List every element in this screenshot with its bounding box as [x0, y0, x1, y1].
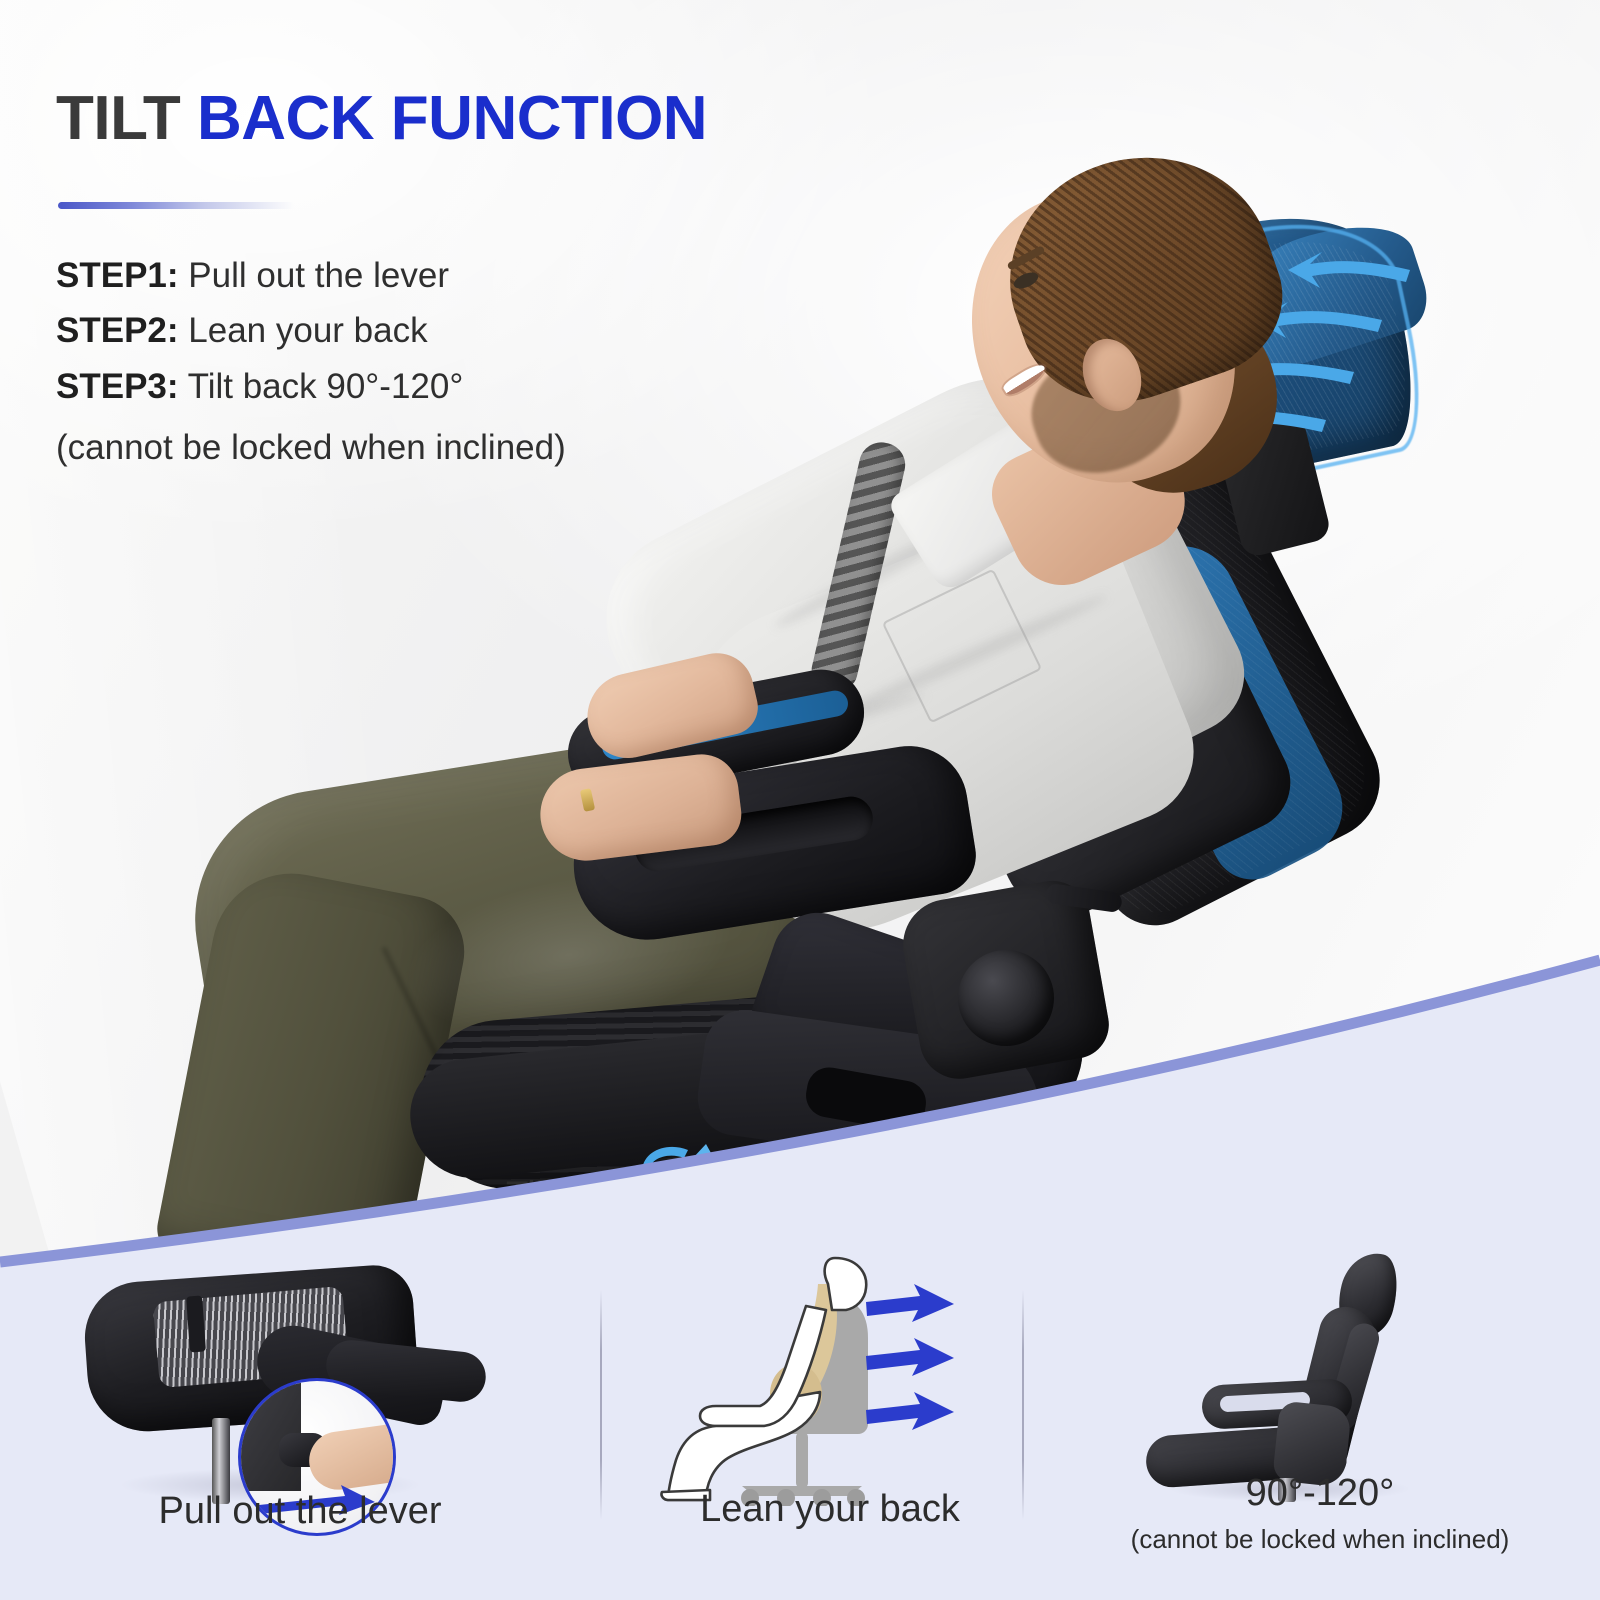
thumbnail-chair-reclined-profile	[1110, 1244, 1530, 1494]
bottom-panel-3-caption: 90°-120°	[1070, 1472, 1570, 1515]
poster-root: Tilt Tension TILT BACK FUNCTION STEP1: P…	[0, 0, 1600, 1600]
thumbnail-chair-underside-with-lever	[60, 1250, 540, 1500]
thumbnail-seated-person-leaning-back	[620, 1246, 1040, 1506]
bottom-panel-3: 90°-120° (cannot be locked when inclined…	[1070, 1240, 1570, 1600]
bottom-panel-1: Pull out the lever	[40, 1240, 560, 1600]
lean-back-arrows-icon	[862, 1278, 1022, 1448]
bottom-thumbnail-row: Pull out the lever	[0, 1240, 1600, 1600]
bottom-panel-2: Lean your back	[620, 1240, 1040, 1600]
bottom-panel-3-subcaption: (cannot be locked when inclined)	[1070, 1524, 1570, 1555]
bottom-panel-1-caption: Pull out the lever	[40, 1490, 560, 1533]
bottom-panel-2-caption: Lean your back	[620, 1488, 1040, 1531]
